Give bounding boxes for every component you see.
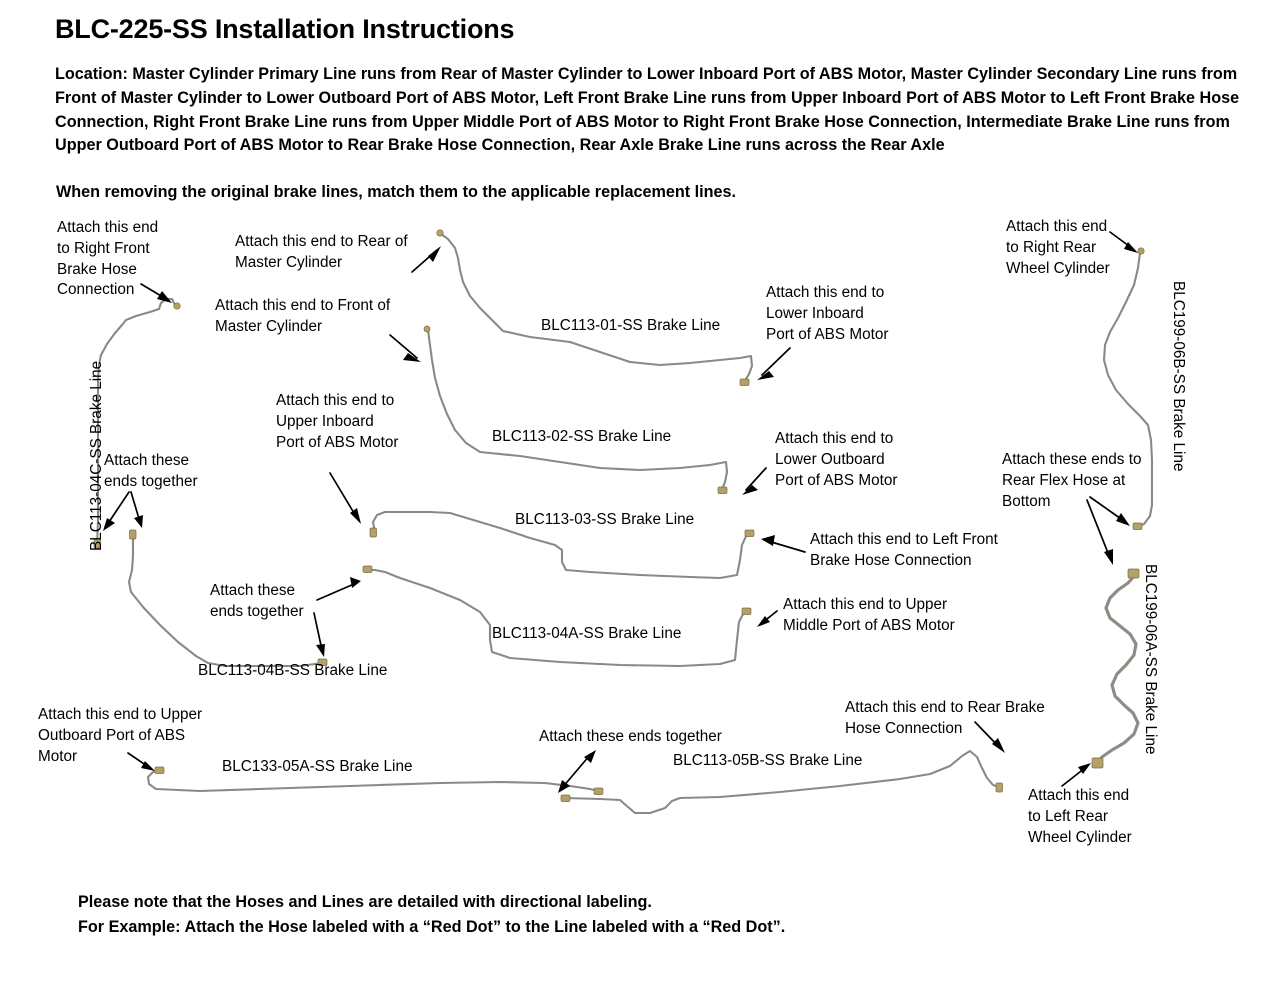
- arrow-right-rear-wheel-cylinder: [1110, 232, 1138, 253]
- part-label-line-05a: BLC133-05A-SS Brake Line: [222, 757, 412, 777]
- callout-upper-middle-port: Attach this end to Upper Middle Port of …: [783, 595, 955, 637]
- location-paragraph: Location: Master Cylinder Primary Line r…: [55, 63, 1260, 158]
- callout-ends-together-2: Attach these ends together: [210, 581, 304, 623]
- callout-rear-master-cylinder: Attach this end to Rear of Master Cylind…: [235, 232, 408, 274]
- part-label-line-06b: BLC199-06B-SS Brake Line: [1169, 281, 1187, 471]
- arrow-front-master-cylinder: [390, 335, 421, 362]
- arrow-left-rear-wheel-cylinder: [1062, 763, 1091, 786]
- installation-instructions-page: BLC-225-SS Installation Instructions Loc…: [0, 0, 1280, 989]
- part-label-line-04b: BLC113-04B-SS Brake Line: [198, 661, 387, 681]
- part-label-line-01: BLC113-01-SS Brake Line: [541, 316, 720, 336]
- arrow-ends-together-1b: [131, 492, 143, 528]
- part-label-line-06a: BLC199-06A-SS Brake Line: [1141, 564, 1159, 754]
- arrow-rear-master-cylinder: [412, 246, 441, 272]
- part-label-line-05b: BLC113-05B-SS Brake Line: [673, 751, 862, 771]
- arrow-lower-outboard-port: [742, 468, 766, 495]
- match-note: When removing the original brake lines, …: [56, 183, 736, 202]
- arrow-left-front-hose: [761, 535, 805, 552]
- arrow-lower-inboard-port: [757, 348, 790, 380]
- brake-line-04a-shape: [363, 566, 751, 666]
- callout-upper-outboard-port: Attach this end to Upper Outboard Port o…: [38, 705, 202, 767]
- part-label-line-03: BLC113-03-SS Brake Line: [515, 510, 694, 530]
- callout-ends-together-1: Attach these ends together: [104, 451, 198, 493]
- callout-lower-inboard-port: Attach this end to Lower Inboard Port of…: [766, 283, 888, 345]
- callout-upper-inboard-port: Attach this end to Upper Inboard Port of…: [276, 391, 398, 453]
- arrow-ends-together-1a: [103, 492, 129, 531]
- callout-rear-flex-hose: Attach these ends to Rear Flex Hose at B…: [1002, 450, 1141, 512]
- part-label-line-02: BLC113-02-SS Brake Line: [492, 427, 671, 447]
- callout-left-front-hose: Attach this end to Left Front Brake Hose…: [810, 530, 998, 572]
- part-label-line-04c: BLC113-04C-SS Brake Line: [88, 361, 106, 551]
- brake-line-06a-shape: [1092, 569, 1139, 768]
- callout-right-rear-wheel-cylinder: Attach this end to Right Rear Wheel Cyli…: [1006, 217, 1110, 279]
- brake-line-01-shape: [437, 230, 752, 386]
- callout-ends-together-3: Attach these ends together: [539, 727, 722, 748]
- arrow-ends-together-2b: [314, 613, 325, 657]
- brake-line-04c-shape: [94, 299, 180, 548]
- callout-front-master-cylinder: Attach this end to Front of Master Cylin…: [215, 296, 390, 338]
- arrow-upper-middle-port: [757, 611, 777, 627]
- arrow-upper-inboard-port: [330, 473, 361, 524]
- callout-left-rear-wheel-cylinder: Attach this end to Left Rear Wheel Cylin…: [1028, 786, 1132, 848]
- part-label-line-04a: BLC113-04A-SS Brake Line: [492, 624, 681, 644]
- footer-notes: Please note that the Hoses and Lines are…: [78, 890, 785, 939]
- brake-line-02-shape: [424, 326, 727, 494]
- callout-lower-outboard-port: Attach this end to Lower Outboard Port o…: [775, 429, 897, 491]
- page-title: BLC-225-SS Installation Instructions: [55, 14, 514, 45]
- callout-right-front-hose: Attach this end to Right Front Brake Hos…: [57, 218, 158, 301]
- arrow-ends-together-2a: [317, 577, 361, 600]
- callout-rear-brake-hose: Attach this end to Rear Brake Hose Conne…: [845, 698, 1045, 740]
- arrow-ends-together-3: [558, 750, 596, 793]
